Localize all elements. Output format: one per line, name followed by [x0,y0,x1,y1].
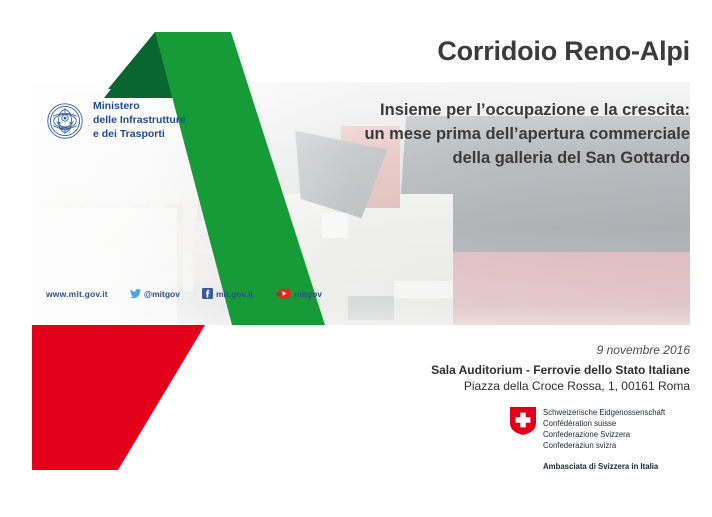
ministry-line-3: e dei Trasporti [93,128,186,142]
ministry-logo: Ministero delle Infrastrutture e dei Tra… [46,100,186,142]
ministry-line-2: delle Infrastrutture [93,114,186,128]
facebook-handle: mit.gov.it [216,289,253,299]
swiss-language-lines: Schweizerische Eidgenossenschaft Confédé… [543,407,665,451]
social-bar: www.mit.gov.it @mitgov mit.gov.it You mi… [46,288,322,299]
swiss-line-de: Schweizerische Eidgenossenschaft [543,407,665,418]
swiss-embassy-label: Ambasciata di Svizzera in Italia [543,462,658,471]
chevron-dark-green [108,32,205,89]
facebook-icon [202,288,213,299]
event-date: 9 novembre 2016 [300,343,690,357]
swiss-line-rm: Confederaziun svizra [543,440,665,451]
youtube-icon: You [275,288,291,299]
page-title: Corridoio Reno-Alpi [300,36,690,67]
website-url[interactable]: www.mit.gov.it [46,289,108,299]
event-heading: Insieme per l’occupazione e la crescita:… [250,99,690,171]
swiss-confederation-logo: Schweizerische Eidgenossenschaft Confédé… [510,407,665,451]
ministry-line-1: Ministero [93,100,186,114]
red-trapezoid [32,325,205,470]
twitter-icon [130,288,141,299]
slide-canvas: Corridoio Reno-Alpi [0,0,712,517]
swiss-line-fr: Confédération suisse [543,418,665,429]
event-venue: Sala Auditorium - Ferrovie dello Stato I… [250,363,690,377]
swiss-cross-shield [510,407,536,435]
svg-text:You: You [276,292,284,297]
social-link-youtube[interactable]: You mitgov [275,288,322,299]
swiss-line-it: Confederazione Svizzera [543,429,665,440]
youtube-handle: mitgov [294,289,322,299]
italian-republic-emblem [46,102,84,140]
social-link-twitter[interactable]: @mitgov [130,288,180,299]
social-link-facebook[interactable]: mit.gov.it [202,288,253,299]
ministry-name: Ministero delle Infrastrutture e dei Tra… [93,100,186,142]
twitter-handle: @mitgov [144,289,180,299]
event-address: Piazza della Croce Rossa, 1, 00161 Roma [250,379,690,393]
heading-line-2: un mese prima dell’apertura commerciale [250,123,690,147]
heading-line-1: Insieme per l’occupazione e la crescita: [250,99,690,123]
heading-line-3: della galleria del San Gottardo [250,147,690,171]
